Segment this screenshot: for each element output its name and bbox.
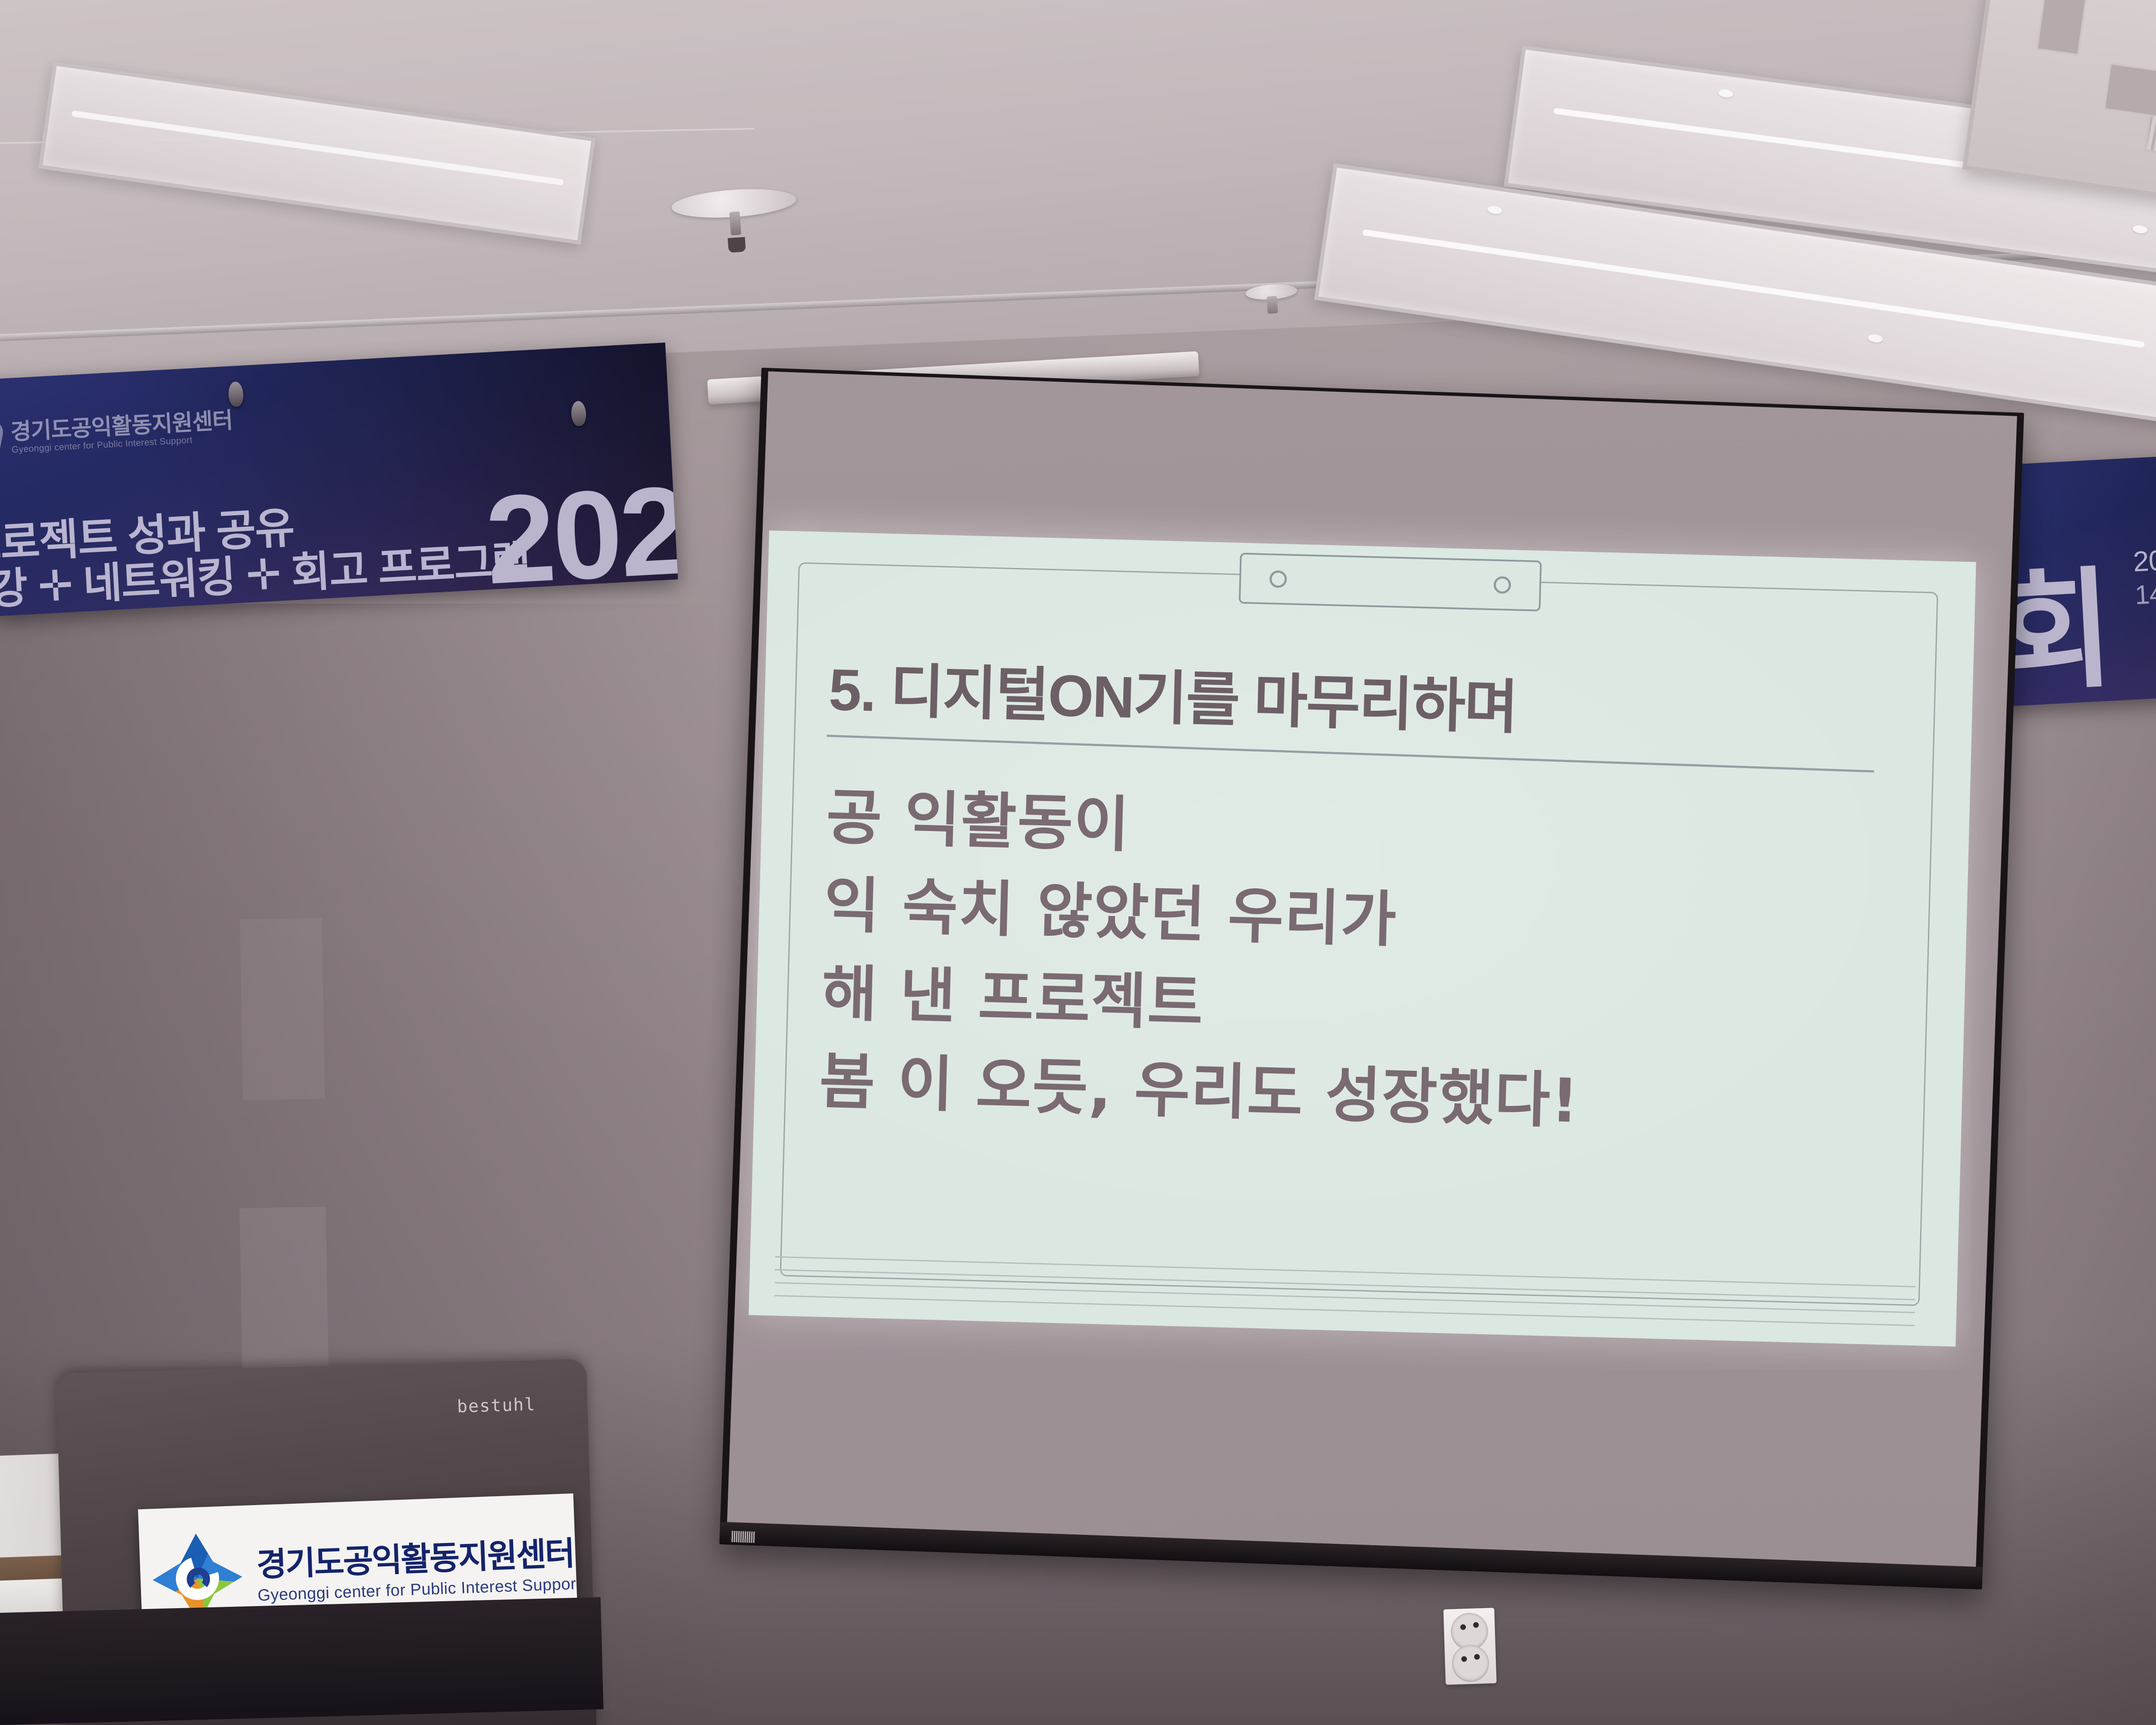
floor-shadow-left [0, 1597, 604, 1725]
screen-barcode-label [730, 1531, 755, 1543]
page-stack-line [774, 1282, 1915, 1313]
light-clip-icon [1868, 334, 1883, 344]
banner-right-schedule: 2025. 11. 1.(SAT) 14:00 -18:00 [2132, 533, 2156, 612]
sprinkler-head-center [1245, 283, 1299, 321]
sprinkler-head-left [671, 185, 800, 259]
light-clip-icon [1718, 89, 1733, 98]
light-clip-icon [2132, 225, 2148, 234]
slide-title: 5. 디지털ON기를 마무리하며 [828, 642, 1518, 745]
slide-body: 공 익활동이 익 숙치 않았던 우리가 해 낸 프로젝트 봄 이 오듯, 우리도… [818, 774, 1588, 1146]
screen-surface: 5. 디지털ON기를 마무리하며 공 익활동이 익 숙치 않았던 우리가 해 낸… [727, 371, 2017, 1567]
page-stack-line [774, 1295, 1915, 1326]
ac-vane-icon [2036, 0, 2093, 56]
chair-brand-label: bestuhl [457, 1395, 536, 1417]
light-clip-icon [1487, 205, 1502, 215]
swirl-logo-icon [0, 415, 5, 463]
projected-slide: 5. 디지털ON기를 마무리하며 공 익활동이 익 숙치 않았던 우리가 해 낸… [749, 530, 1976, 1347]
clip-hole-icon [1269, 570, 1287, 588]
outlet-socket-bottom[interactable] [1451, 1644, 1490, 1683]
conference-room-photo: 경기도공익활동지원센터 Gyeonggi center for Public I… [0, 0, 2156, 1725]
ac-vane-icon [2103, 63, 2156, 130]
sprinkler-nozzle-icon [728, 237, 746, 253]
sprinkler-stem-icon [1266, 296, 1278, 314]
name-plate-text: 경기도공익활동지원센터 Gyeonggi center for Public I… [256, 1536, 578, 1605]
wall-tape-patch-upper [240, 918, 325, 1100]
clip-hole-icon [1494, 576, 1511, 594]
banner-left: 경기도공익활동지원센터 Gyeonggi center for Public I… [0, 342, 678, 616]
notebook-clip-icon [1239, 553, 1542, 612]
projector-screen[interactable]: 5. 디지털ON기를 마무리하며 공 익활동이 익 숙치 않았던 우리가 해 낸… [719, 368, 2024, 1590]
sprinkler-stem-icon [729, 211, 741, 235]
wall-power-outlet[interactable] [1443, 1608, 1496, 1685]
